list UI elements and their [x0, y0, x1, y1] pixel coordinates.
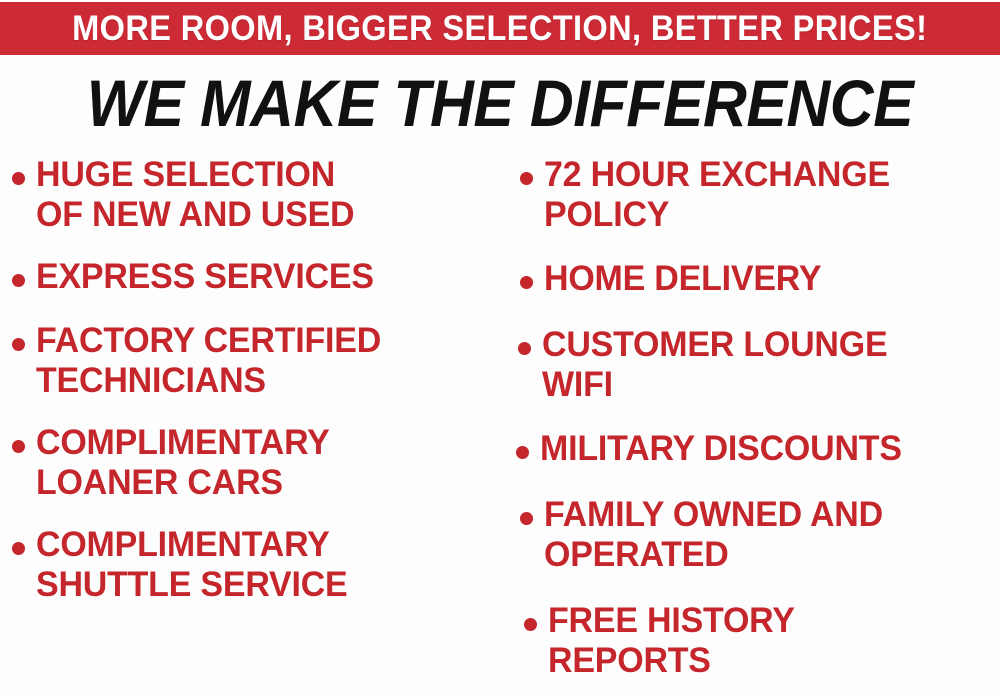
list-item-label: COMPLIMENTARY LOANER CARS [36, 423, 330, 503]
bullet-dot-icon [12, 274, 25, 287]
banner-headline-text: MORE ROOM, BIGGER SELECTION, BETTER PRIC… [72, 11, 927, 46]
list-item-label: FAMILY OWNED AND OPERATED [544, 495, 883, 575]
promotional-poster: MORE ROOM, BIGGER SELECTION, BETTER PRIC… [0, 0, 1000, 694]
list-item-label: HUGE SELECTION OF NEW AND USED [36, 155, 354, 235]
bullet-dot-icon [520, 276, 533, 289]
list-item-label: MILITARY DISCOUNTS [540, 429, 902, 469]
top-banner: MORE ROOM, BIGGER SELECTION, BETTER PRIC… [0, 2, 1000, 55]
list-item-label: FREE HISTORY REPORTS [548, 601, 795, 681]
bullet-dot-icon [12, 338, 25, 351]
features-column-right: 72 HOUR EXCHANGE POLICY HOME DELIVERY CU… [506, 155, 1000, 694]
list-item-label: 72 HOUR EXCHANGE POLICY [544, 155, 890, 235]
list-item-label: CUSTOMER LOUNGE WIFI [542, 325, 887, 405]
bullet-dot-icon [12, 172, 25, 185]
bullet-dot-icon [12, 542, 25, 555]
list-item: 72 HOUR EXCHANGE POLICY [520, 155, 1000, 235]
page-title: WE MAKE THE DIFFERENCE [40, 68, 960, 138]
bullet-dot-icon [520, 512, 533, 525]
list-item: FREE HISTORY REPORTS [524, 601, 1000, 681]
list-item-label: COMPLIMENTARY SHUTTLE SERVICE [36, 525, 348, 605]
features-columns: HUGE SELECTION OF NEW AND USED EXPRESS S… [0, 155, 1000, 694]
bullet-dot-icon [516, 446, 529, 459]
list-item: COMPLIMENTARY SHUTTLE SERVICE [12, 525, 506, 605]
list-item: EXPRESS SERVICES [12, 257, 506, 297]
list-item-label: FACTORY CERTIFIED TECHNICIANS [36, 321, 381, 401]
bullet-dot-icon [12, 440, 25, 453]
list-item: HOME DELIVERY [520, 259, 1000, 299]
bullet-dot-icon [520, 172, 533, 185]
list-item: FACTORY CERTIFIED TECHNICIANS [12, 321, 506, 401]
bullet-dot-icon [518, 342, 531, 355]
list-item: HUGE SELECTION OF NEW AND USED [12, 155, 506, 235]
bullet-dot-icon [524, 618, 537, 631]
list-item: MILITARY DISCOUNTS [516, 429, 1000, 469]
list-item: COMPLIMENTARY LOANER CARS [12, 423, 506, 503]
features-column-left: HUGE SELECTION OF NEW AND USED EXPRESS S… [12, 155, 506, 623]
list-item: FAMILY OWNED AND OPERATED [520, 495, 1000, 575]
list-item: CUSTOMER LOUNGE WIFI [518, 325, 1000, 405]
list-item-label: HOME DELIVERY [544, 259, 821, 299]
list-item-label: EXPRESS SERVICES [36, 257, 374, 297]
